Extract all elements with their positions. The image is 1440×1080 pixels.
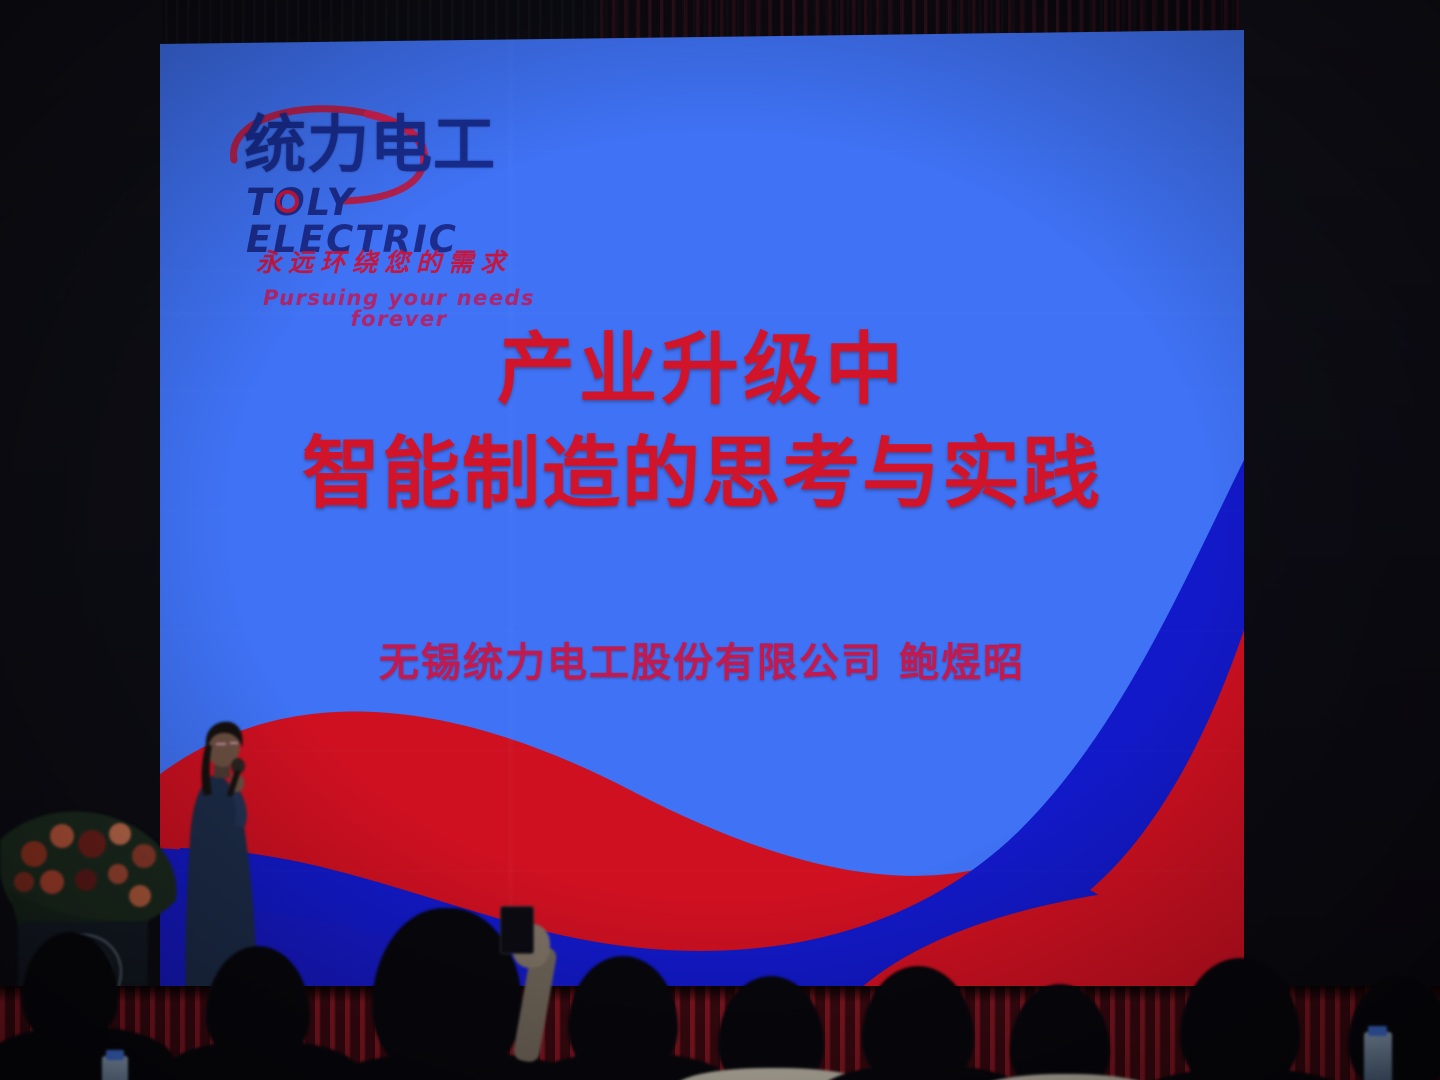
slide-title-block: 产业升级中 智能制造的思考与实践 [160, 330, 1244, 516]
logo-chinese-text: 统力电工 [244, 114, 496, 176]
audience-shoulder [166, 1040, 358, 1080]
logo-mark: 统力电工 TOLY ELECTRIC [200, 110, 570, 220]
water-bottle-cap [106, 1050, 124, 1060]
audience-head [1010, 984, 1110, 1080]
audience-head [1180, 958, 1300, 1080]
audience-head [1348, 976, 1440, 1080]
audience-row [0, 880, 1440, 1080]
led-screen: 统力电工 TOLY ELECTRIC 永远环绕您的需求 Pursuing you… [160, 30, 1244, 998]
company-logo: 统力电工 TOLY ELECTRIC 永远环绕您的需求 Pursuing you… [200, 110, 570, 320]
water-bottle [1364, 1032, 1392, 1080]
audience-shoulder [820, 1064, 1024, 1080]
audience-head [862, 966, 974, 1080]
audience-shoulder [1138, 1068, 1350, 1080]
audience-head [718, 976, 824, 1080]
logo-tagline-english: Pursuing your needs forever [224, 288, 574, 330]
photo-scene: 统力电工 TOLY ELECTRIC 永远环绕您的需求 Pursuing you… [0, 0, 1440, 1080]
slide-title-line-2: 智能制造的思考与实践 [160, 434, 1244, 516]
smartphone-icon[interactable] [500, 906, 534, 954]
presenter-hair-back [202, 744, 212, 796]
logo-english-text: TOLY ELECTRIC [246, 184, 570, 258]
logo-tagline-chinese: 永远环绕您的需求 [194, 250, 574, 275]
hall-wall-right [1240, 0, 1440, 1000]
water-bottle-cap [1368, 1026, 1387, 1036]
logo-english-o: O [273, 181, 306, 224]
slide-title-line-1: 产业升级中 [160, 330, 1244, 412]
audience-shoulder [0, 1026, 174, 1080]
slide-presenter-line: 无锡统力电工股份有限公司 鲍煜昭 [160, 630, 1244, 688]
